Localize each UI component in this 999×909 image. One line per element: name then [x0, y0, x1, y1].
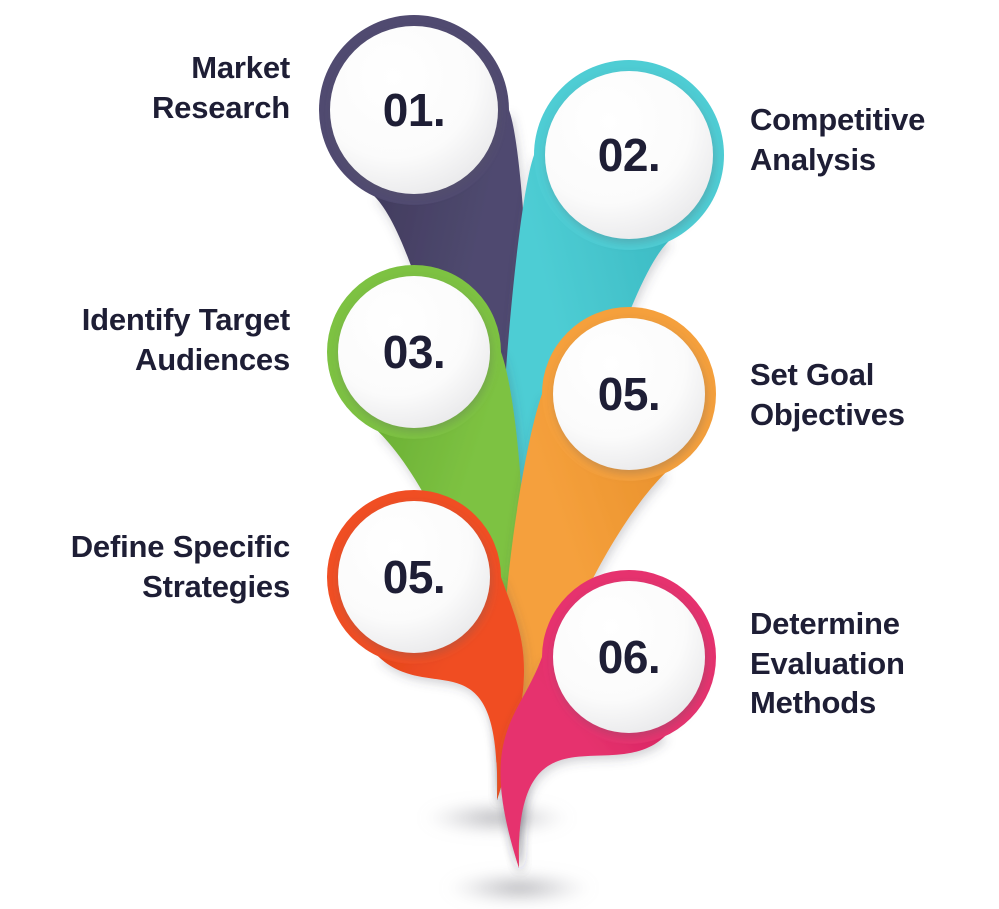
pin-number: 06.: [598, 631, 660, 683]
pin-number: 02.: [598, 129, 660, 181]
step-label-2: Competitive Analysis: [750, 100, 999, 179]
pin-number: 03.: [383, 326, 445, 378]
pin-shapes: 01.02.03.05.05.06.: [319, 15, 724, 868]
step-label-5: Define Specific Strategies: [0, 527, 290, 606]
pin-ground-shadow: [445, 872, 593, 904]
step-label-6: Determine Evaluation Methods: [750, 604, 999, 723]
pin-number: 05.: [598, 368, 660, 420]
pin-ground-shadow: [423, 802, 571, 834]
step-label-3: Identify Target Audiences: [0, 300, 290, 379]
pin-number: 01.: [383, 84, 445, 136]
step-label-4: Set Goal Objectives: [750, 355, 999, 434]
infographic-root: 01.02.03.05.05.06. Market Research Compe…: [0, 0, 999, 909]
pin-number: 05.: [383, 551, 445, 603]
step-label-1: Market Research: [20, 48, 290, 127]
